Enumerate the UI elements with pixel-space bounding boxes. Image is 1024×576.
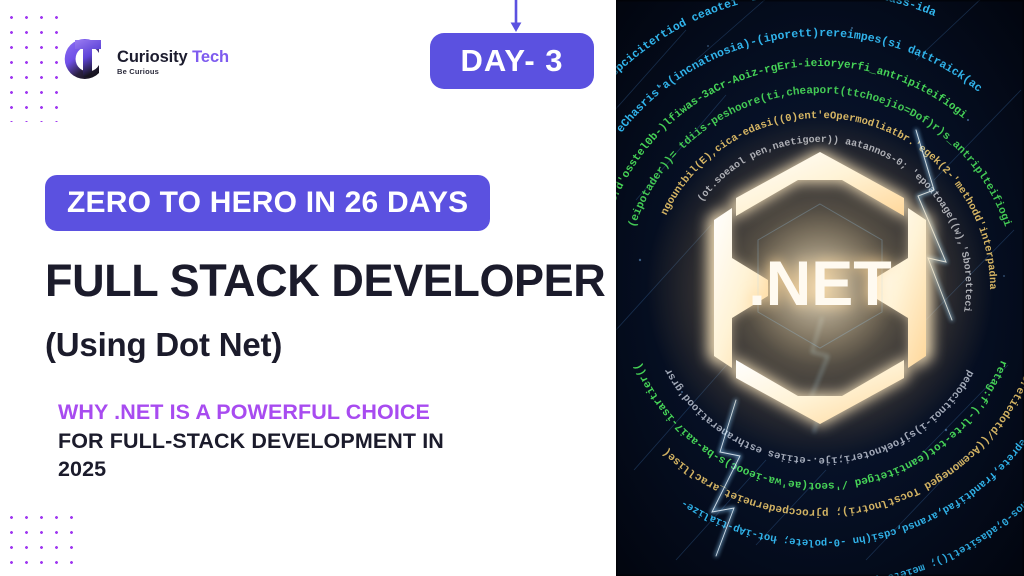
page-subtitle: (Using Dot Net) xyxy=(45,328,282,361)
topic-line-1: WHY .NET IS A POWERFUL CHOICE xyxy=(58,398,598,427)
hero-center-label: .NET xyxy=(748,249,892,319)
day-badge[interactable]: DAY- 3 xyxy=(430,33,594,89)
brand-name-part-1: Curiosity xyxy=(117,48,188,66)
brand-wordmark: Curiosity Tech Be Curious xyxy=(117,43,229,76)
page-title: FULL STACK DEVELOPER xyxy=(45,258,605,303)
content-panel: Curiosity Tech Be Curious DAY- 3 ZERO TO… xyxy=(0,0,616,576)
arrow-down-icon xyxy=(509,0,523,34)
topic-block: WHY .NET IS A POWERFUL CHOICE FOR FULL-S… xyxy=(58,398,598,484)
course-duration-label: ZERO TO HERO IN 26 DAYS xyxy=(67,186,468,220)
day-badge-label: DAY- 3 xyxy=(460,43,563,79)
topic-line-3: 2025 xyxy=(58,455,598,484)
brand-name: Curiosity Tech xyxy=(117,49,229,66)
topic-line-2: FOR FULL-STACK DEVELOPMENT IN xyxy=(58,427,598,456)
curiosity-c-t-monogram-icon xyxy=(55,30,113,88)
hero-dotnet-image: (:slemectose))''s-spcicitertiod ceaotei'… xyxy=(616,0,1024,576)
poster-canvas: Curiosity Tech Be Curious DAY- 3 ZERO TO… xyxy=(0,0,1024,576)
course-duration-pill[interactable]: ZERO TO HERO IN 26 DAYS xyxy=(45,175,490,231)
brand-name-part-2: Tech xyxy=(192,48,229,66)
brand-tagline: Be Curious xyxy=(117,68,229,76)
brand-logo[interactable]: Curiosity Tech Be Curious xyxy=(55,28,229,90)
